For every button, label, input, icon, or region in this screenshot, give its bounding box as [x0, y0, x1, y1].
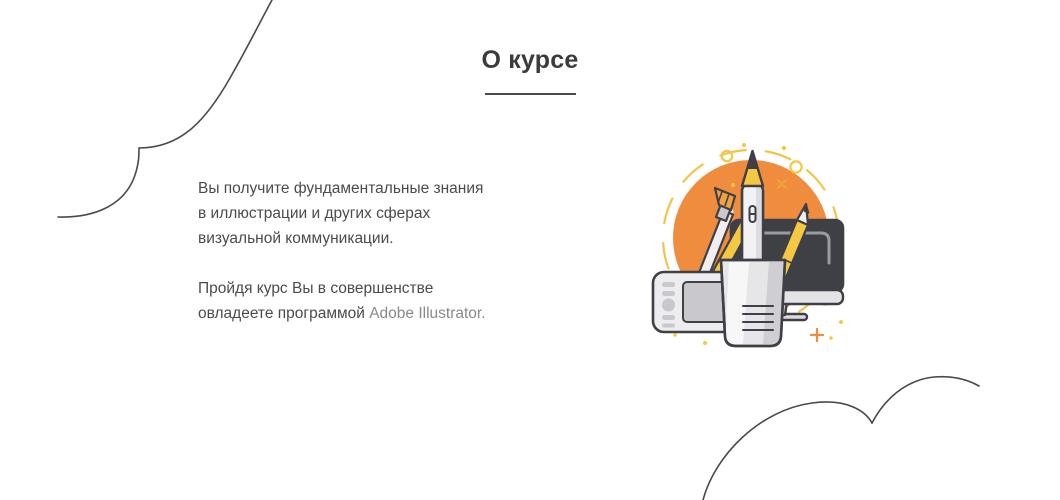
- bottom-right-wave-right-arc: [872, 377, 979, 423]
- paragraph-one-line-three: визуальной коммуникации.: [198, 230, 394, 247]
- paragraph-two: Пройдя курс Вы в совершенстве овладеете …: [198, 276, 558, 326]
- bottom-right-wave-left-arc: [703, 402, 872, 500]
- paragraph-one: Вы получите фундаментальные знания в илл…: [198, 176, 558, 251]
- brand-name-adobe-illustrator: Adobe Illustrator.: [369, 305, 485, 322]
- dot-icon: [703, 341, 707, 345]
- dot-icon: [731, 183, 735, 187]
- dot-icon: [673, 333, 677, 337]
- paragraph-two-line-one: Пройдя курс Вы в совершенстве: [198, 280, 433, 297]
- dot-icon: [742, 143, 746, 147]
- circle-outline-icon: [790, 161, 801, 172]
- page-title: О курсе: [0, 48, 1060, 73]
- heading-block: О курсе: [0, 48, 1060, 95]
- plus-mark-icon: [811, 329, 823, 341]
- about-course-section: О курсе Вы получите фундаментальные знан…: [0, 0, 1060, 500]
- title-underline: [485, 93, 576, 95]
- pen-cup-icon: [721, 260, 785, 346]
- paragraph-two-line-two-prefix: овладеете программой: [198, 305, 369, 322]
- design-tools-illustration: [645, 132, 860, 362]
- dot-icon: [829, 336, 833, 340]
- body-copy: Вы получите фундаментальные знания в илл…: [198, 176, 558, 326]
- dot-icon: [782, 146, 786, 150]
- dot-icon: [839, 320, 843, 324]
- paragraph-one-line-two: в иллюстрации и других сферах: [198, 205, 430, 222]
- paragraph-one-line-one: Вы получите фундаментальные знания: [198, 180, 483, 197]
